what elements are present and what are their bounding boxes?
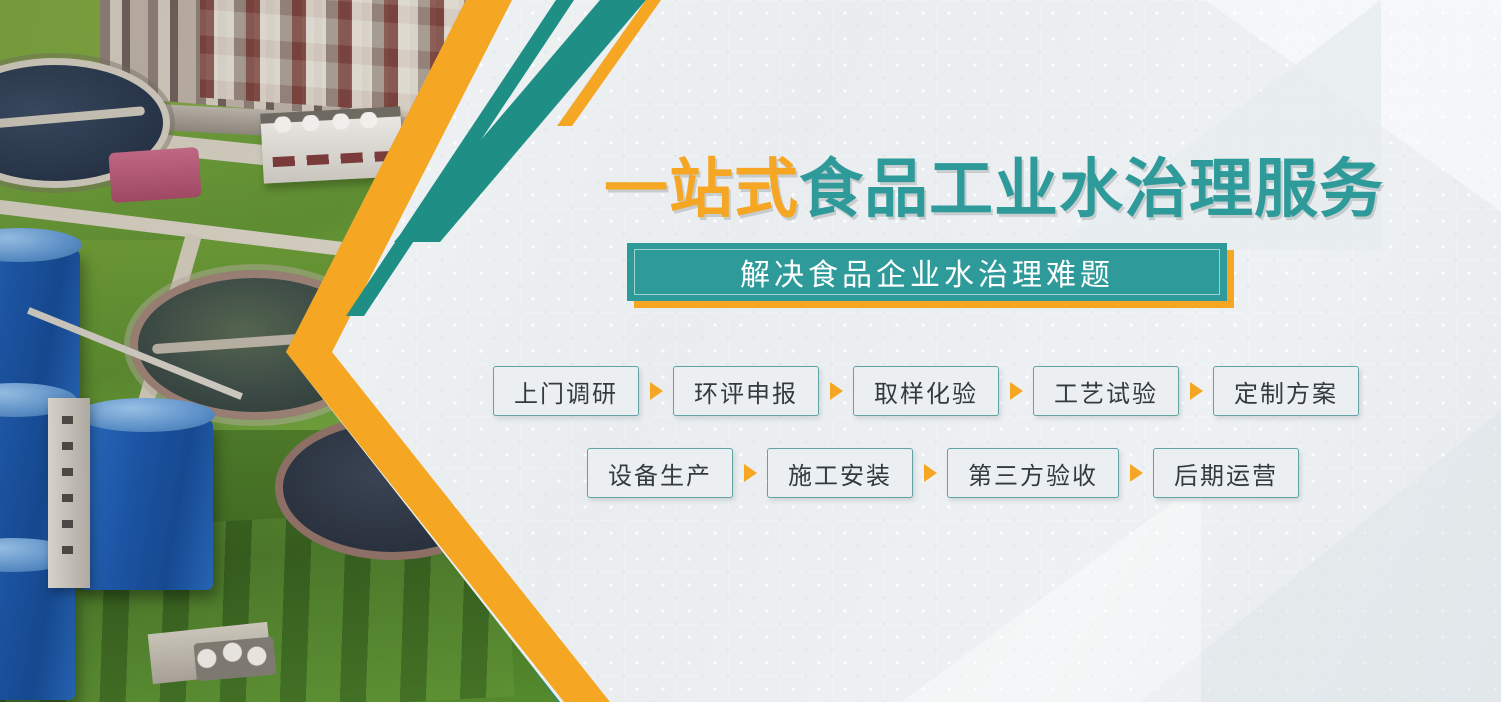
process-step-label: 设备生产	[608, 456, 712, 491]
process-step-huanpingshenbao[interactable]: 环评申报	[673, 366, 819, 416]
process-step-label: 环评申报	[694, 374, 798, 409]
process-step-dingzhifangan[interactable]: 定制方案	[1213, 366, 1359, 416]
process-step-shebeishengchan[interactable]: 设备生产	[587, 448, 733, 498]
process-step-shigonganzhuang[interactable]: 施工安装	[767, 448, 913, 498]
process-step-label: 施工安装	[788, 456, 892, 491]
subtitle-banner: 解决食品企业水治理难题	[627, 243, 1227, 301]
process-step-label: 取样化验	[874, 374, 978, 409]
subtitle-text: 解决食品企业水治理难题	[740, 250, 1114, 294]
hero-banner: 一站式食品工业水治理服务 解决食品企业水治理难题 上门调研 环评申报 取样化验 …	[0, 0, 1501, 702]
process-step-houqiyunying[interactable]: 后期运营	[1153, 448, 1299, 498]
process-step-disanfangyanshou[interactable]: 第三方验收	[947, 448, 1119, 498]
arrow-right-icon	[1179, 366, 1213, 416]
headline-highlight: 一站式	[604, 153, 799, 225]
process-row-1: 上门调研 环评申报 取样化验 工艺试验 定制方案	[493, 366, 1359, 416]
process-step-label: 定制方案	[1234, 374, 1338, 409]
process-step-label: 后期运营	[1174, 456, 1278, 491]
process-row-2: 设备生产 施工安装 第三方验收 后期运营	[587, 448, 1299, 498]
process-step-quyanghuayan[interactable]: 取样化验	[853, 366, 999, 416]
arrow-right-icon	[999, 366, 1033, 416]
process-step-label: 上门调研	[514, 374, 618, 409]
arrow-right-icon	[639, 366, 673, 416]
arrow-right-icon	[913, 448, 947, 498]
page-title: 一站式食品工业水治理服务	[604, 157, 1384, 221]
headline-rest: 食品工业水治理服务	[799, 153, 1384, 225]
process-step-gongyishiyan[interactable]: 工艺试验	[1033, 366, 1179, 416]
process-step-label: 工艺试验	[1054, 374, 1158, 409]
process-step-shangmendiaoyan[interactable]: 上门调研	[493, 366, 639, 416]
arrow-right-icon	[733, 448, 767, 498]
subtitle-bar: 解决食品企业水治理难题	[627, 243, 1227, 301]
process-step-label: 第三方验收	[968, 456, 1098, 491]
arrow-right-icon	[1119, 448, 1153, 498]
arrow-right-icon	[819, 366, 853, 416]
